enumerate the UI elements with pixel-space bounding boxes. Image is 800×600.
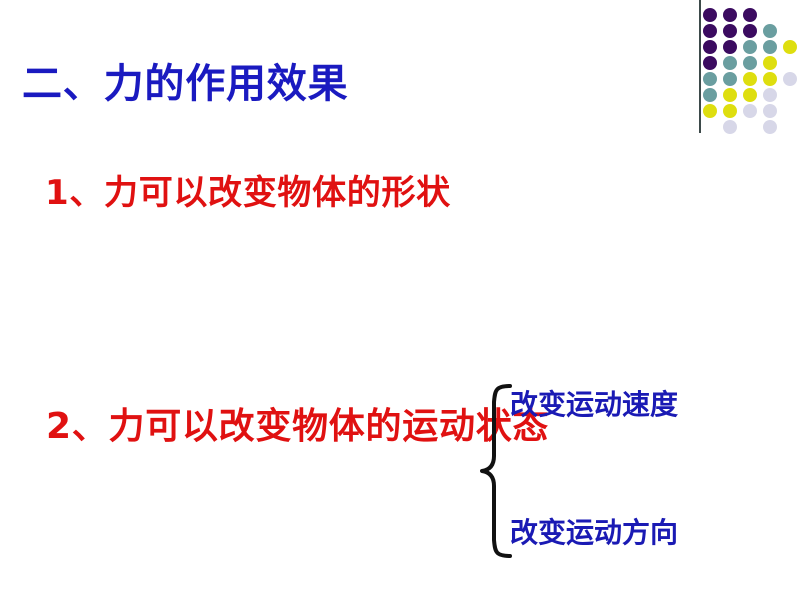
branch-label-direction: 改变运动方向 — [510, 516, 678, 550]
decor-dot — [703, 104, 717, 118]
decor-dot — [763, 120, 777, 134]
page-title: 二、力的作用效果 — [22, 60, 348, 108]
decor-dot — [743, 104, 757, 118]
decor-dot — [703, 56, 717, 70]
decor-dot — [783, 72, 797, 86]
decor-dot — [763, 72, 777, 86]
decor-dot — [743, 56, 757, 70]
decor-dot — [743, 40, 757, 54]
dot-grid — [703, 8, 799, 134]
vertical-rule-divider — [699, 0, 701, 133]
branch-label-speed: 改变运动速度 — [510, 388, 678, 422]
decor-dot — [743, 8, 757, 22]
decor-dot — [763, 24, 777, 38]
decor-dot — [763, 56, 777, 70]
decor-dot — [723, 104, 737, 118]
decor-dot — [703, 72, 717, 86]
decor-dot — [723, 24, 737, 38]
point-2-text: 2、力可以改变物体的运动状态 — [46, 404, 486, 450]
decor-dot — [743, 24, 757, 38]
decor-dot — [703, 40, 717, 54]
decor-dot — [703, 24, 717, 38]
slide-canvas: 二、力的作用效果 1、力可以改变物体的形状 2、力可以改变物体的运动状态 改变运… — [0, 0, 800, 600]
decor-dot — [703, 88, 717, 102]
decorative-dot-motif — [694, 0, 800, 140]
point-1-text: 1、力可以改变物体的形状 — [45, 172, 451, 214]
decor-dot — [763, 104, 777, 118]
decor-dot — [723, 72, 737, 86]
decor-dot — [703, 8, 717, 22]
decor-dot — [723, 40, 737, 54]
decor-dot — [723, 8, 737, 22]
decor-dot — [763, 88, 777, 102]
decor-dot — [763, 40, 777, 54]
decor-dot — [723, 88, 737, 102]
decor-dot — [743, 72, 757, 86]
decor-dot — [723, 56, 737, 70]
decor-dot — [723, 120, 737, 134]
decor-dot — [743, 88, 757, 102]
decor-dot — [783, 40, 797, 54]
